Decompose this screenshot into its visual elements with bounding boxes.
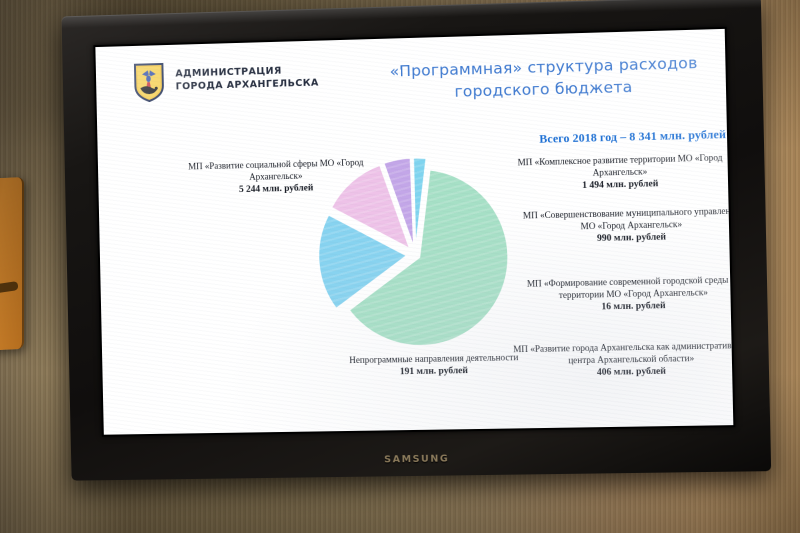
organization-name: АДМИНИСТРАЦИЯ ГОРОДА АРХАНГЕЛЬСКА [175, 65, 319, 94]
label-nonprog-value: 191 млн. рублей [339, 364, 529, 380]
label-env-text: МП «Формирование современной городской с… [527, 274, 734, 300]
label-complex-value: 1 494 млн. рублей [499, 176, 733, 194]
television-display[interactable]: SAMSUNG АДМИНИСТРАЦИЯ ГОРОДА АРХАНГЕЛЬСК [61, 0, 771, 481]
slide-header: АДМИНИСТРАЦИЯ ГОРОДА АРХАНГЕЛЬСКА [133, 58, 319, 103]
label-env-value: 16 млн. рублей [510, 298, 734, 315]
label-municipal-management: МП «Совершенствование муниципального упр… [520, 205, 734, 247]
label-admin-value: 406 млн. рублей [505, 364, 733, 381]
label-administrative-center: МП «Развитие города Архангельска как адм… [504, 340, 733, 381]
label-urban-environment: МП «Формирование современной городской с… [509, 274, 733, 316]
presentation-slide[interactable]: АДМИНИСТРАЦИЯ ГОРОДА АРХАНГЕЛЬСКА «Прогр… [95, 29, 733, 435]
label-complex-development: МП «Комплексное развитие территории МО «… [498, 152, 733, 195]
label-social-text: МП «Развитие социальной сферы МО «Город … [188, 157, 363, 182]
label-complex-text: МП «Комплексное развитие территории МО «… [517, 152, 722, 177]
label-social-sphere: МП «Развитие социальной сферы МО «Город … [174, 157, 378, 198]
label-nonprogram: Непрограммные направления деятельности 1… [339, 352, 530, 380]
label-nonprog-text: Непрограммные направления деятельности [349, 352, 518, 365]
arkhangelsk-coat-of-arms-icon [133, 62, 165, 102]
total-budget-line: Всего 2018 год – 8 341 млн. рублей [486, 126, 734, 149]
room-scene: SAMSUNG АДМИНИСТРАЦИЯ ГОРОДА АРХАНГЕЛЬСК [0, 0, 800, 533]
label-admin-text: МП «Развитие города Архангельска как адм… [513, 340, 733, 365]
label-manage-text: МП «Совершенствование муниципального упр… [523, 206, 733, 232]
label-manage-value: 990 млн. рублей [520, 230, 733, 247]
slide-title: «Программная» структура расходов городск… [342, 51, 733, 106]
